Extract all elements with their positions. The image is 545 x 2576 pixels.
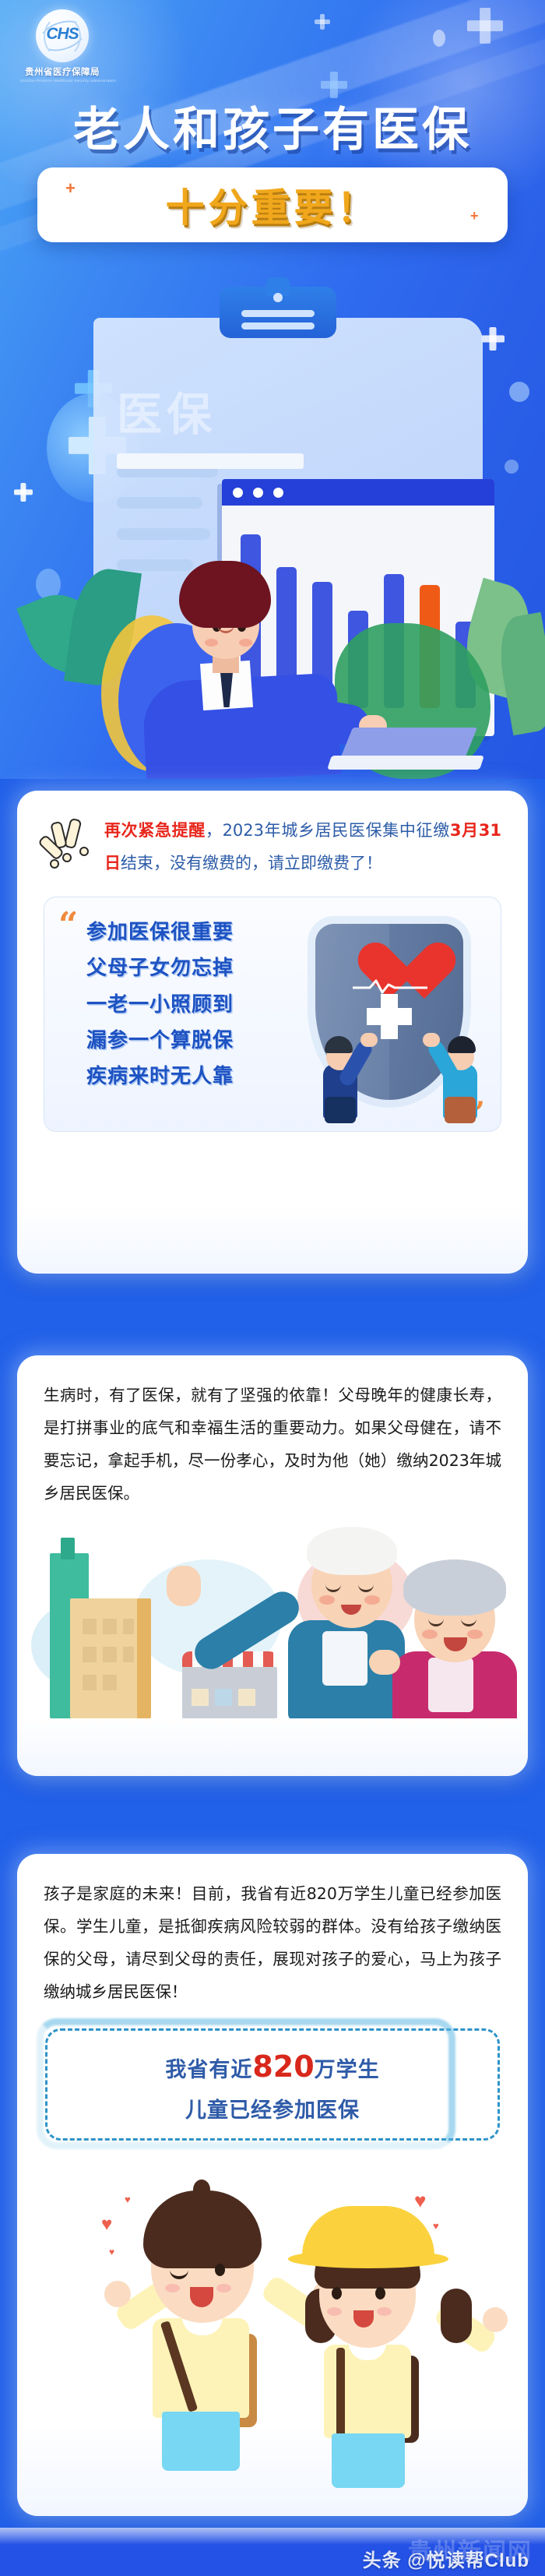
heart-icon: ♥: [101, 2214, 112, 2236]
person-hair: [448, 1036, 476, 1053]
logo-chs-text: CHS: [36, 25, 89, 44]
alert-prefix: 再次紧急提醒: [104, 821, 206, 840]
globe-icon: CHS: [36, 9, 89, 62]
person-hand: [423, 1033, 440, 1047]
subtitle-card: + + 十分重要！: [37, 167, 508, 242]
grandmother-blush: [467, 1630, 483, 1639]
desk-surface: [117, 453, 304, 469]
statistic-number: 820: [252, 2049, 314, 2084]
boy-blush: [165, 2284, 180, 2292]
person-illustration: [136, 561, 393, 779]
building-antenna: [61, 1538, 75, 1559]
clipboard-icon: [220, 287, 336, 338]
girl-bag-strap: [336, 2348, 345, 2438]
heart-icon: ♥: [414, 2189, 426, 2213]
girl-hat: [302, 2206, 434, 2256]
boy-eye: [215, 2264, 225, 2276]
building-side: [137, 1598, 151, 1718]
girl-skirt: [332, 2433, 405, 2488]
alert-middle: ，2023年城乡居民医保集中征缴: [206, 821, 450, 840]
ecg-line-icon: [353, 978, 427, 994]
page-subtitle: 十分重要！: [37, 177, 508, 233]
document-text-line: [117, 497, 202, 509]
hero-section: CHS 贵州省医疗保障局 Guizhou Province Healthcare…: [0, 0, 545, 779]
cross-icon: [467, 8, 503, 44]
statistic-prefix: 我省有近: [165, 2058, 252, 2082]
girl-hand-right: [483, 2307, 508, 2332]
hero-illustration: 医保: [0, 257, 545, 779]
browser-dot: [273, 488, 283, 498]
statistic-highlight-box: 我省有近820万学生 儿童已经参加医保: [45, 2028, 500, 2141]
browser-title-bar: [222, 479, 494, 506]
grandmother-blush: [422, 1630, 438, 1639]
person-hand: [360, 1033, 378, 1047]
laptop-base: [327, 756, 484, 770]
slogan-line: 疾病来时无人靠: [86, 1059, 234, 1094]
grandmother-hand: [369, 1650, 400, 1675]
heart-icon: ♥: [109, 2247, 114, 2257]
grandfather-collar: [322, 1631, 367, 1686]
dot-decoration: [433, 30, 445, 47]
boy-hair-tuft: [193, 2180, 210, 2200]
alert-suffix: 结束，没有缴费的，请立即缴费了！: [121, 854, 382, 872]
quote-open-icon: “: [58, 908, 78, 943]
poster-root: CHS 贵州省医疗保障局 Guizhou Province Healthcare…: [0, 0, 545, 2576]
cross-icon: [315, 14, 330, 30]
person-legs: [445, 1097, 476, 1123]
document-text-line: [117, 528, 210, 540]
statistic-line-1: 我省有近820万学生: [47, 2031, 498, 2084]
statistic-postfix: 万学生: [315, 2058, 380, 2082]
person-hair: [325, 1036, 353, 1053]
statistic-line-2: 儿童已经参加医保: [47, 2084, 498, 2123]
browser-dot: [253, 488, 263, 498]
parents-card: 生病时，有了医保，就有了坚强的依靠！父母晚年的健康长寿，是打拼事业的底气和幸福生…: [17, 1355, 528, 1776]
girl-blush: [327, 2307, 342, 2316]
person-hair: [179, 561, 271, 628]
person-left: [320, 1025, 390, 1119]
organization-name-cn: 贵州省医疗保障局: [20, 65, 104, 78]
alert-row: 再次紧急提醒，2023年城乡居民医保集中征缴3月31日结束，没有缴费的，请立即缴…: [44, 814, 501, 879]
girl-hat-brim: [288, 2250, 448, 2268]
slogan-line: 漏参一个算脱保: [86, 1023, 234, 1059]
grandfather-blush: [319, 1595, 335, 1605]
page-title: 老人和孩子有医保: [0, 92, 545, 160]
boy-figure: [125, 2181, 319, 2547]
boy-hand-left: [104, 2281, 131, 2307]
organization-name-en: Guizhou Province Healthcare Security Adm…: [20, 79, 104, 83]
clipboard-dot: [273, 293, 283, 302]
boy-pants: [162, 2412, 240, 2471]
boy-hair: [143, 2190, 262, 2268]
children-paragraph: 孩子是家庭的未来！目前，我省有近820万学生儿童已经参加医保。学生儿童，是抵御疾…: [44, 1877, 501, 2008]
girl-pigtail-right: [441, 2289, 472, 2343]
person-right: [410, 1025, 480, 1119]
girl-eye: [375, 2287, 385, 2299]
person-blush: [239, 639, 252, 647]
person-blush: [205, 639, 218, 647]
slogan-list: 参加医保很重要 父母子女勿忘掉 一老一小照顾到 漏参一个算脱保 疾病来时无人靠: [86, 914, 234, 1094]
children-card: 孩子是家庭的未来！目前，我省有近820万学生儿童已经参加医保。学生儿童，是抵御疾…: [17, 1854, 528, 2516]
children-illustration: ♥ ♥ ♥ ♥ ♥ ♥ ♥: [17, 2156, 528, 2576]
clipboard-line: [241, 322, 315, 329]
girl-blush: [377, 2307, 392, 2316]
girl-eye: [332, 2287, 342, 2299]
clipboard-line: [241, 310, 315, 317]
grandmother-figure: [380, 1559, 528, 1718]
elderly-couple-illustration: [17, 1514, 528, 1718]
alert-text: 再次紧急提醒，2023年城乡居民医保集中征缴3月31日结束，没有缴费的，请立即缴…: [104, 814, 501, 879]
grandfather-blush: [364, 1595, 380, 1605]
exclamation-marks-icon: [48, 819, 97, 867]
slogan-line: 父母子女勿忘掉: [86, 950, 234, 986]
grandmother-collar: [428, 1658, 473, 1712]
document-watermark-text: 医保: [117, 378, 216, 443]
footer-watermark-bar: 贵州新闻网 头条 @悦读帮Club: [0, 2528, 545, 2576]
parents-paragraph: 生病时，有了医保，就有了坚强的依靠！父母晚年的健康长寿，是打拼事业的底气和幸福生…: [44, 1379, 501, 1510]
slogan-line: 一老一小照顾到: [86, 987, 234, 1023]
slogan-quote-box: “ ” 参加医保很重要 父母子女勿忘掉 一老一小照顾到 漏参一个算脱保 疾病来时…: [44, 897, 501, 1132]
browser-dot: [233, 488, 243, 498]
boy-blush: [216, 2284, 231, 2292]
grandfather-pointing-hand: [167, 1566, 201, 1606]
grandmother-hair: [403, 1559, 506, 1616]
person-legs: [325, 1097, 356, 1123]
shield-illustration: [292, 919, 487, 1119]
girl-figure: [291, 2214, 486, 2557]
laptop-screen: [340, 728, 477, 759]
alert-card: 再次紧急提醒，2023年城乡居民医保集中征缴3月31日结束，没有缴费的，请立即缴…: [17, 791, 528, 1274]
laptop-icon: [329, 728, 477, 770]
slogan-line: 参加医保很重要: [86, 914, 234, 950]
watermark-text: 头条 @悦读帮Club: [363, 2545, 529, 2572]
organization-logo: CHS 贵州省医疗保障局 Guizhou Province Healthcare…: [20, 9, 104, 83]
